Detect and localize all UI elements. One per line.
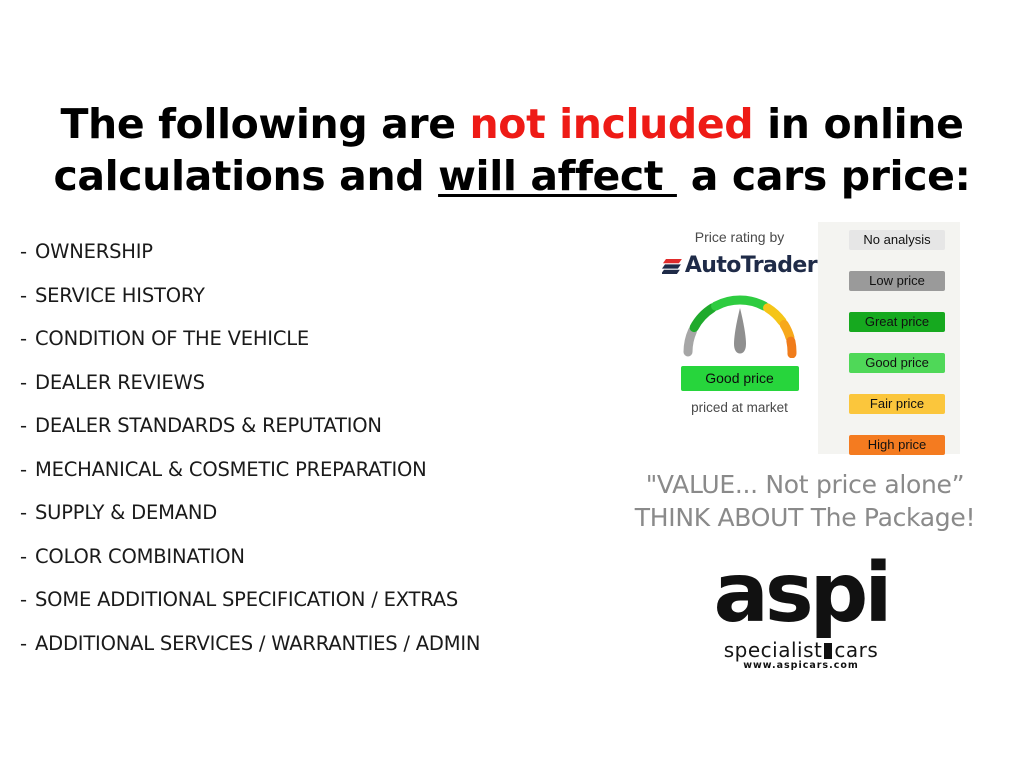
- bullet-dash-icon: -: [20, 578, 35, 622]
- bullet-dash-icon: -: [20, 491, 35, 535]
- bullet-dash-icon: -: [20, 404, 35, 448]
- title-line-1: The following are not included in online: [0, 98, 1024, 150]
- gauge-needle-icon: [734, 308, 746, 354]
- quote-line-1: "VALUE... Not price alone”: [590, 468, 1020, 501]
- list-item-label: MECHANICAL & COSMETIC PREPARATION: [35, 458, 427, 481]
- autotrader-mark-icon: [662, 257, 682, 275]
- price-rating-widget: Price rating by AutoTrader: [662, 220, 962, 456]
- aspi-tagline-separator-icon: [824, 643, 832, 659]
- legend-badge-good-price[interactable]: Good price: [849, 353, 945, 373]
- list-item-label: COLOR COMBINATION: [35, 545, 245, 568]
- autotrader-wordmark: AutoTrader: [685, 253, 817, 278]
- slide-canvas: The following are not included in online…: [0, 0, 1024, 768]
- bullet-dash-icon: -: [20, 317, 35, 361]
- page-title: The following are not included in online…: [0, 98, 1024, 202]
- list-item-label: CONDITION OF THE VEHICLE: [35, 327, 309, 350]
- legend-badge-no-analysis[interactable]: No analysis: [849, 230, 945, 250]
- list-item: -CONDITION OF THE VEHICLE: [20, 317, 640, 361]
- rating-caption: priced at market: [662, 400, 817, 415]
- list-item: -SERVICE HISTORY: [20, 274, 640, 318]
- title-emphasis-will-affect: will affect: [438, 152, 677, 200]
- list-item-label: SUPPLY & DEMAND: [35, 501, 217, 524]
- bullet-dash-icon: -: [20, 622, 35, 666]
- autotrader-logo: AutoTrader: [662, 253, 817, 278]
- factors-list: -OWNERSHIP -SERVICE HISTORY -CONDITION O…: [20, 230, 640, 665]
- bullet-dash-icon: -: [20, 448, 35, 492]
- legend-badge-high-price[interactable]: High price: [849, 435, 945, 455]
- title-text-4: a cars price:: [677, 152, 971, 200]
- list-item: -SOME ADDITIONAL SPECIFICATION / EXTRAS: [20, 578, 640, 622]
- value-quote: "VALUE... Not price alone” THINK ABOUT T…: [590, 468, 1020, 534]
- list-item: -DEALER REVIEWS: [20, 361, 640, 405]
- list-item: -OWNERSHIP: [20, 230, 640, 274]
- bullet-dash-icon: -: [20, 361, 35, 405]
- title-emphasis-not-included: not included: [470, 100, 754, 148]
- price-rating-heading: Price rating by: [662, 229, 817, 245]
- aspi-website-url: www.aspicars.com: [676, 660, 926, 671]
- title-text-1: The following are: [60, 100, 469, 148]
- bullet-dash-icon: -: [20, 535, 35, 579]
- current-rating-badge: Good price: [681, 366, 799, 391]
- list-item-label: ADDITIONAL SERVICES / WARRANTIES / ADMIN: [35, 632, 480, 655]
- aspi-tagline-right: cars: [834, 638, 878, 662]
- list-item-label: SOME ADDITIONAL SPECIFICATION / EXTRAS: [35, 588, 458, 611]
- aspi-tagline-left: specialist: [724, 638, 823, 662]
- rating-legend-panel: No analysis Low price Great price Good p…: [818, 222, 960, 454]
- list-item: -DEALER STANDARDS & REPUTATION: [20, 404, 640, 448]
- legend-badge-fair-price[interactable]: Fair price: [849, 394, 945, 414]
- quote-line-2: THINK ABOUT The Package!: [590, 501, 1020, 534]
- title-line-2: calculations and will affect a cars pric…: [0, 150, 1024, 202]
- list-item: -ADDITIONAL SERVICES / WARRANTIES / ADMI…: [20, 622, 640, 666]
- bullet-dash-icon: -: [20, 274, 35, 318]
- list-item-label: DEALER REVIEWS: [35, 371, 205, 394]
- title-text-2: in online: [753, 100, 963, 148]
- rating-gauge-section: Price rating by AutoTrader: [662, 220, 817, 415]
- aspi-wordmark: aspi: [676, 548, 926, 640]
- aspi-tagline: specialistcars: [676, 638, 926, 662]
- legend-badge-great-price[interactable]: Great price: [849, 312, 945, 332]
- bullet-dash-icon: -: [20, 230, 35, 274]
- list-item: -COLOR COMBINATION: [20, 535, 640, 579]
- list-item-label: DEALER STANDARDS & REPUTATION: [35, 414, 382, 437]
- list-item: -SUPPLY & DEMAND: [20, 491, 640, 535]
- title-text-3: calculations and: [53, 152, 438, 200]
- list-item: -MECHANICAL & COSMETIC PREPARATION: [20, 448, 640, 492]
- list-item-label: SERVICE HISTORY: [35, 284, 205, 307]
- list-item-label: OWNERSHIP: [35, 240, 153, 263]
- aspi-logo: aspi specialistcars www.aspicars.com: [676, 548, 926, 673]
- legend-badge-low-price[interactable]: Low price: [849, 271, 945, 291]
- price-gauge: [662, 288, 817, 358]
- gauge-svg: [676, 288, 804, 358]
